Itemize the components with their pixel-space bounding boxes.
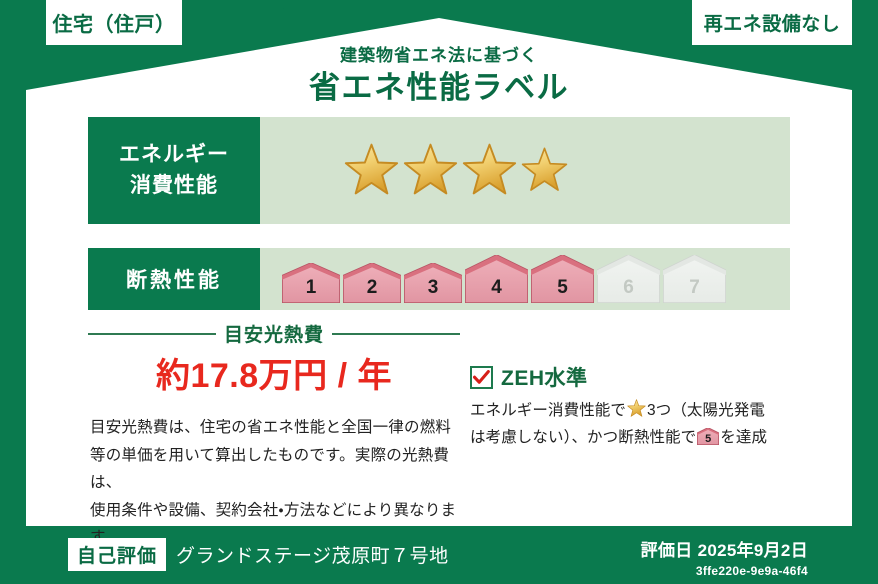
energy-performance-label: 住宅（住戸） 再エネ設備なし 建築物省エネ法に基づく 省エネ性能ラベル エネルギ… bbox=[0, 0, 878, 584]
energy-performance-row: エネルギー 消費性能 bbox=[88, 117, 790, 224]
insulation-grade-2: 2 bbox=[343, 263, 401, 303]
insulation-grade-value: 6 bbox=[623, 277, 634, 299]
title-block: 建築物省エネ法に基づく 省エネ性能ラベル bbox=[0, 46, 878, 108]
insulation-label: 断熱性能 bbox=[126, 264, 222, 294]
building-type-label: 住宅（住戸） bbox=[53, 8, 176, 37]
insulation-performance-row: 断熱性能 1234567 bbox=[88, 248, 790, 310]
utility-cost-heading: 目安光熱費 bbox=[88, 320, 460, 347]
utility-cost-value: 約17.8万円 / 年 bbox=[88, 348, 460, 397]
evaluation-date: 評価日 2025年9月2日 bbox=[641, 536, 808, 561]
insulation-grade-5: 5 bbox=[531, 255, 594, 303]
insulation-grade-scale: 1234567 bbox=[282, 255, 726, 303]
zeh-heading: ZEH水準 bbox=[470, 362, 800, 392]
evaluation-id: 3ffe220e-9e9a-46f4 bbox=[641, 564, 808, 578]
insulation-performance-value: 1234567 bbox=[260, 248, 790, 310]
energy-label-line1: エネルギー bbox=[119, 140, 229, 170]
note-line-1: 目安光熱費は、住宅の省エネ性能と全国一律の燃料 bbox=[90, 414, 472, 442]
label-footer: 自己評価 グランドステージ茂原町７号地 評価日 2025年9月2日 3ffe22… bbox=[0, 526, 878, 584]
footer-right: 評価日 2025年9月2日 3ffe220e-9e9a-46f4 bbox=[641, 536, 808, 578]
zeh-description: エネルギー消費性能で3つ（太陽光発電は考慮しない）、かつ断熱性能で5を達成 bbox=[470, 398, 800, 454]
rule-left bbox=[88, 333, 216, 335]
building-type-tab: 住宅（住戸） bbox=[46, 0, 182, 45]
zeh-block: ZEH水準 エネルギー消費性能で3つ（太陽光発電は考慮しない）、かつ断熱性能で5… bbox=[470, 362, 800, 454]
insulation-grade-value: 4 bbox=[491, 277, 502, 299]
insulation-grade-value: 7 bbox=[689, 277, 700, 299]
star-icon bbox=[344, 142, 399, 200]
label-subtitle: 建築物省エネ法に基づく bbox=[0, 46, 878, 66]
insulation-performance-label-box: 断熱性能 bbox=[88, 248, 260, 310]
zeh-desc-part4: を達成 bbox=[720, 429, 767, 446]
checkbox-checked-icon bbox=[470, 366, 493, 389]
star-icon bbox=[462, 142, 517, 200]
rule-right bbox=[332, 333, 460, 335]
insulation-grade-4: 4 bbox=[465, 255, 528, 303]
insulation-grade-value: 3 bbox=[428, 277, 439, 299]
zeh-title: ZEH水準 bbox=[501, 362, 588, 392]
insulation-grade-value: 2 bbox=[367, 277, 378, 299]
energy-performance-value bbox=[260, 117, 790, 224]
insulation-grade-1: 1 bbox=[282, 263, 340, 303]
note-line-2: 等の単価を用いて算出したものです。実際の光熱費は、 bbox=[90, 442, 472, 497]
insulation-grade-7: 7 bbox=[663, 255, 726, 303]
zeh-desc-part2: 3つ（太陽光発電 bbox=[647, 402, 765, 419]
star-icon bbox=[521, 142, 568, 200]
page-title: 省エネ性能ラベル bbox=[0, 69, 878, 108]
star-rating bbox=[344, 142, 568, 200]
utility-cost-heading-text: 目安光熱費 bbox=[224, 320, 324, 347]
insulation-grade-value: 5 bbox=[557, 277, 568, 299]
insulation-grade-6: 6 bbox=[597, 255, 660, 303]
insulation-grade-value: 1 bbox=[306, 277, 317, 299]
energy-performance-label-box: エネルギー 消費性能 bbox=[88, 117, 260, 224]
renewable-energy-tab: 再エネ設備なし bbox=[692, 0, 852, 45]
renewable-energy-label: 再エネ設備なし bbox=[704, 9, 841, 36]
footer-left: 自己評価 グランドステージ茂原町７号地 bbox=[68, 538, 449, 571]
insulation-grade-3: 3 bbox=[404, 263, 462, 303]
zeh-desc-part1: エネルギー消費性能で bbox=[470, 402, 626, 419]
zeh-desc-part3: は考慮しない）、かつ断熱性能で bbox=[470, 429, 696, 446]
energy-label-line2: 消費性能 bbox=[130, 171, 218, 201]
inline-star-icon bbox=[627, 399, 646, 418]
evaluation-type-badge: 自己評価 bbox=[68, 538, 166, 571]
property-name: グランドステージ茂原町７号地 bbox=[176, 541, 449, 568]
inline-grade-house-icon: 5 bbox=[697, 428, 719, 455]
star-icon bbox=[403, 142, 458, 200]
